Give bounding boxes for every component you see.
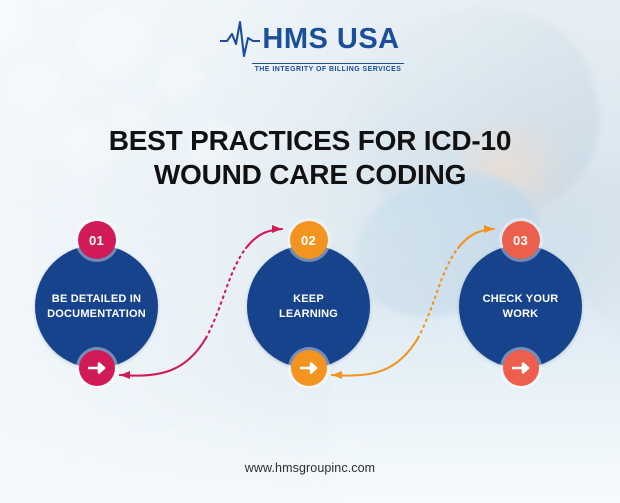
step-arrow-button-03[interactable] xyxy=(503,350,539,386)
arrow-right-icon xyxy=(512,361,530,375)
step-label-02-line-2: LEARNING xyxy=(279,308,338,320)
step-label-03-line-2: WORK xyxy=(503,308,539,320)
step-card-01[interactable]: BE DETAILED IN DOCUMENTATION 01 xyxy=(29,221,164,386)
step-label-03: CHECK YOUR WORK xyxy=(473,292,569,321)
step-card-02[interactable]: KEEP LEARNING 02 xyxy=(241,221,376,386)
arrow-right-icon xyxy=(300,361,318,375)
step-number-badge-01: 01 xyxy=(78,221,116,259)
step-label-03-line-1: CHECK YOUR xyxy=(483,293,559,305)
step-arrow-button-01[interactable] xyxy=(79,350,115,386)
step-arrow-button-02[interactable] xyxy=(291,350,327,386)
step-label-02: KEEP LEARNING xyxy=(269,292,348,321)
step-number-badge-03: 03 xyxy=(502,221,540,259)
infographic-canvas: HMS USA THE INTEGRITY OF BILLING SERVICE… xyxy=(0,0,620,503)
step-label-01: BE DETAILED IN DOCUMENTATION xyxy=(37,292,156,321)
steps-flow: BE DETAILED IN DOCUMENTATION 01 KEEP LEA… xyxy=(0,0,620,503)
step-label-01-line-2: DOCUMENTATION xyxy=(47,308,146,320)
step-label-01-line-1: BE DETAILED IN xyxy=(52,293,141,305)
arrow-right-icon xyxy=(88,361,106,375)
step-number-badge-02: 02 xyxy=(290,221,328,259)
footer-website-url[interactable]: www.hmsgroupinc.com xyxy=(0,461,620,475)
step-card-03[interactable]: CHECK YOUR WORK 03 xyxy=(453,221,588,386)
step-label-02-line-1: KEEP xyxy=(293,293,324,305)
